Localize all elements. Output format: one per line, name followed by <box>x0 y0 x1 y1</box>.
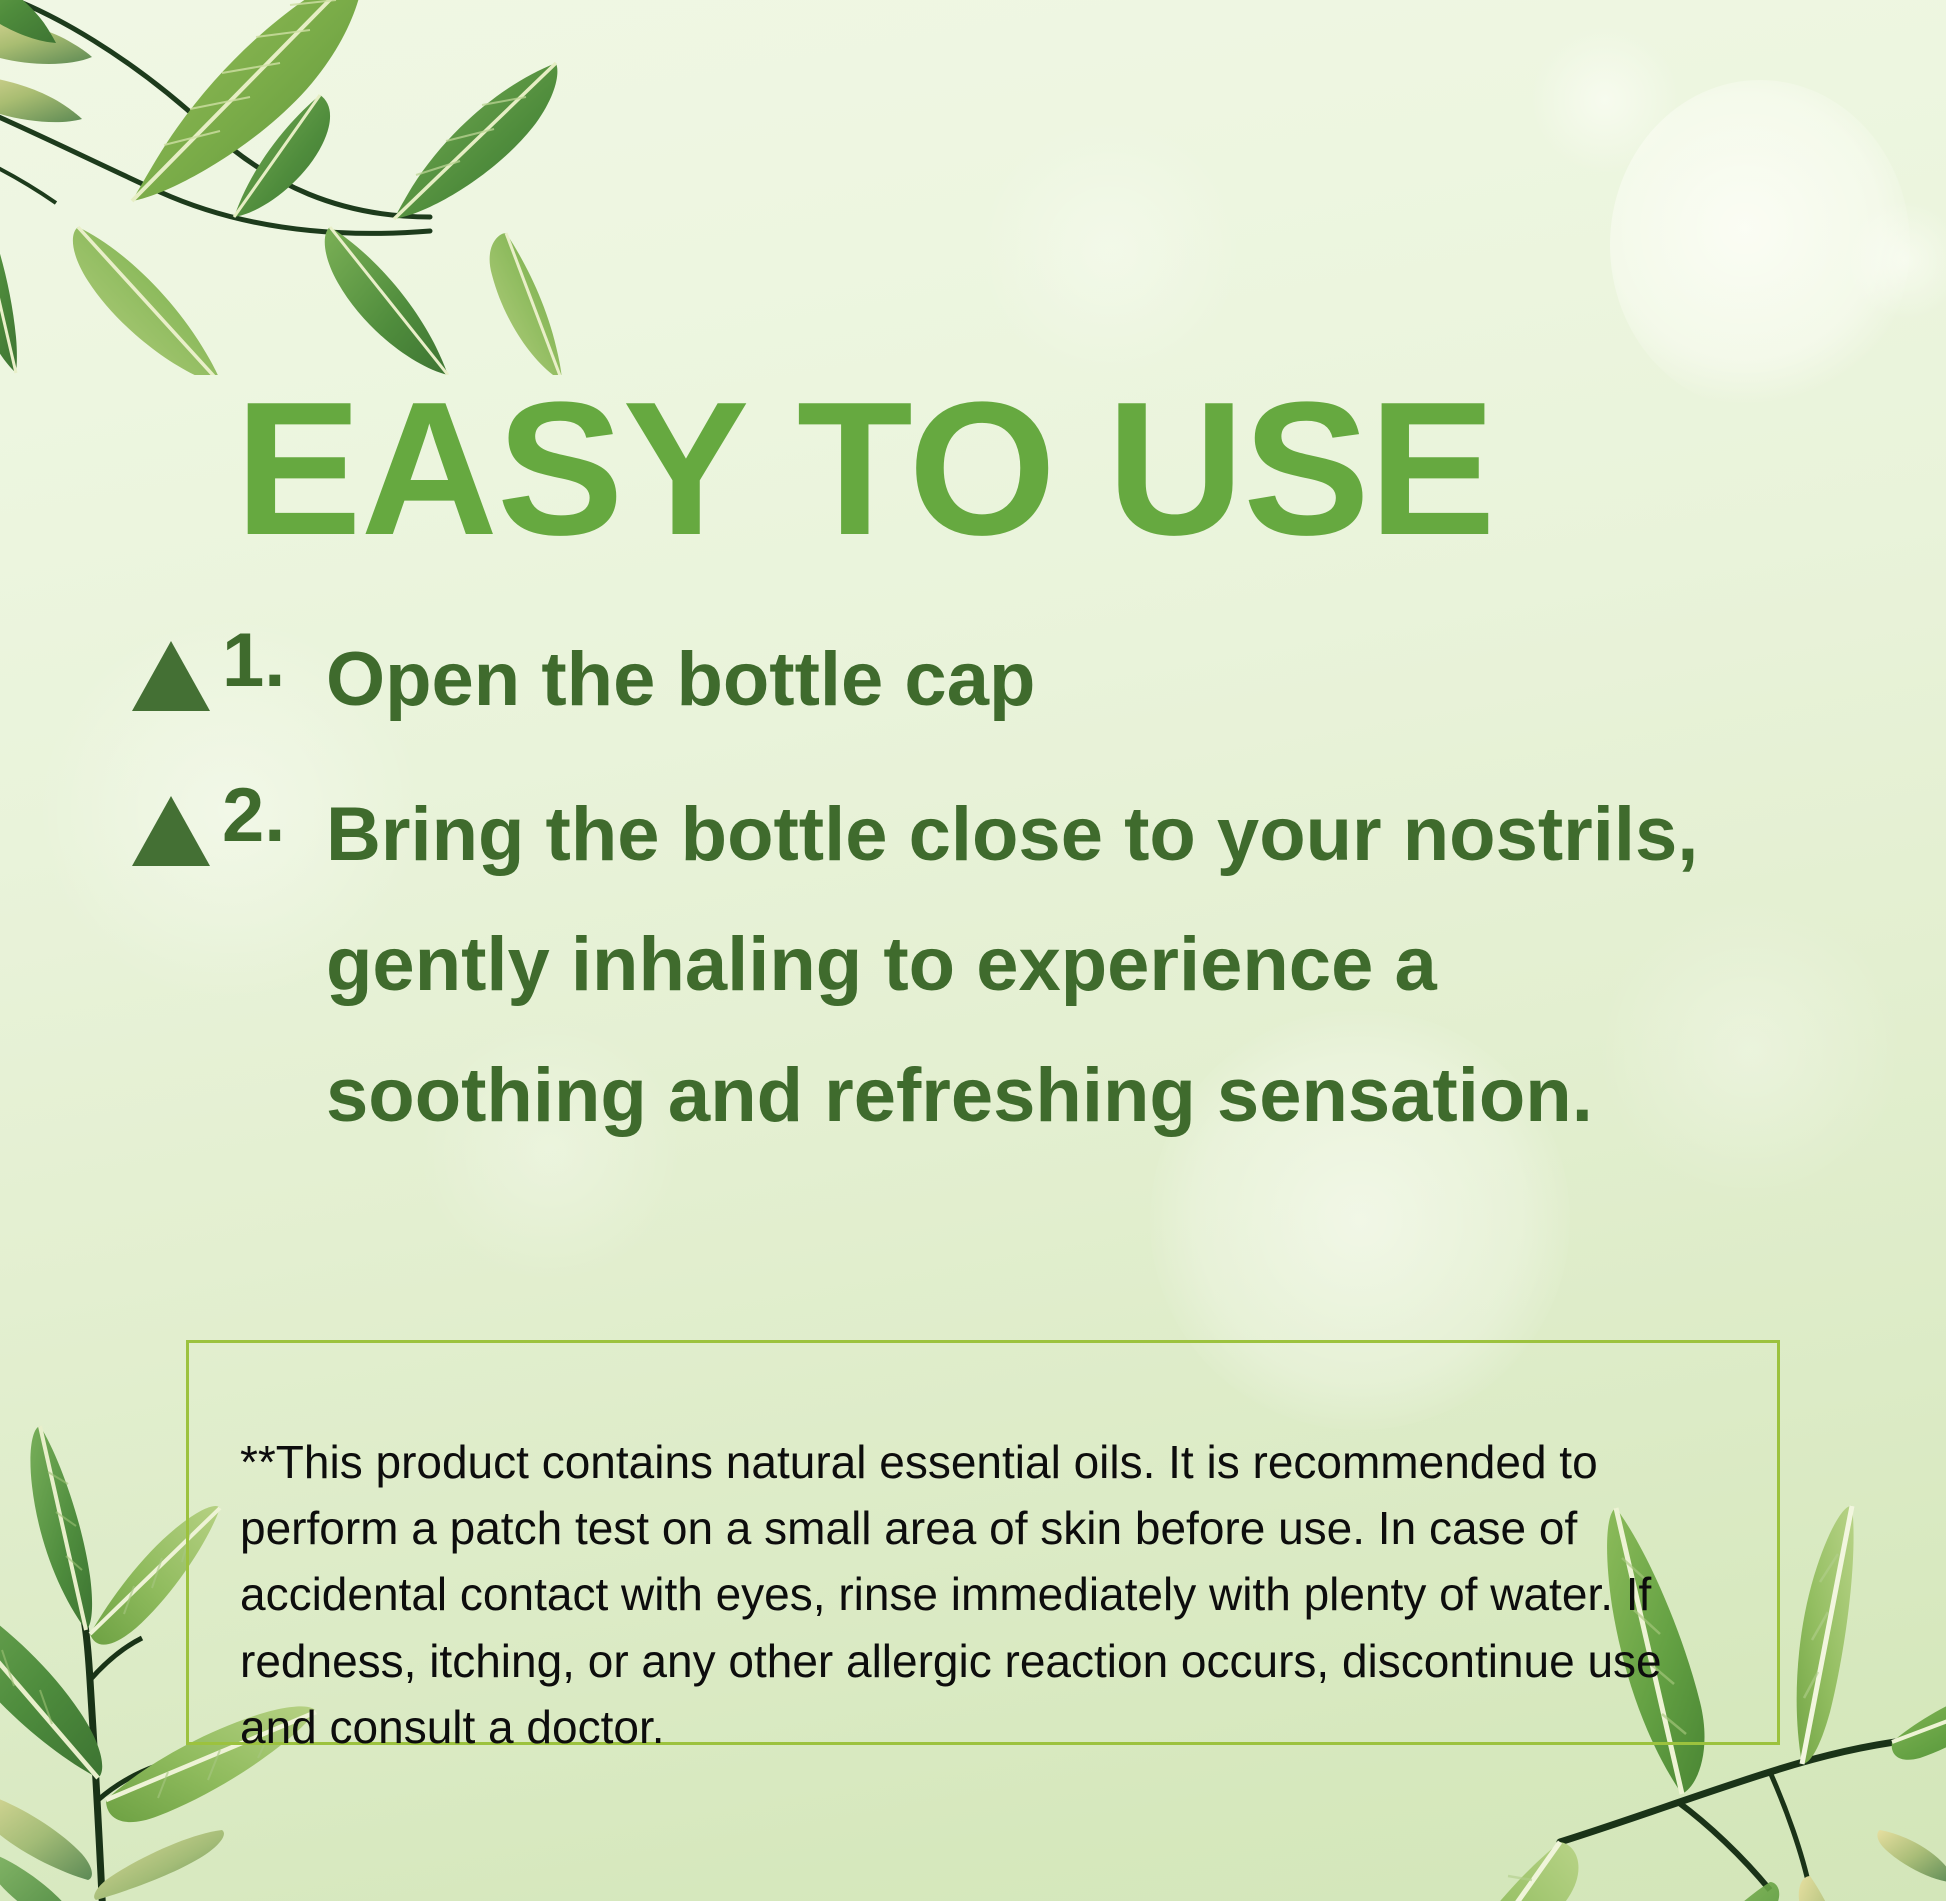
poster-canvas: EASY TO USE 1. Open the bottle cap 2. Br… <box>0 0 1946 1901</box>
disclaimer-text: **This product contains natural essentia… <box>240 1429 1740 1760</box>
instruction-steps-list: 1. Open the bottle cap 2. Bring the bott… <box>132 615 1832 1186</box>
step-number: 2. <box>222 770 326 863</box>
page-title: EASY TO USE <box>235 374 1495 564</box>
bokeh-highlight <box>1530 25 1680 175</box>
list-item: 2. Bring the bottle close to your nostri… <box>132 770 1832 1162</box>
list-item: 1. Open the bottle cap <box>132 615 1832 746</box>
bokeh-highlight <box>1845 200 1946 320</box>
triangle-bullet-icon <box>132 796 210 866</box>
bokeh-highlight <box>980 120 1240 380</box>
triangle-bullet-icon <box>132 641 210 711</box>
step-number: 1. <box>222 615 326 708</box>
bokeh-highlight <box>1610 80 1910 410</box>
step-text: Bring the bottle close to your nostrils,… <box>326 770 1746 1162</box>
step-text: Open the bottle cap <box>326 615 1035 746</box>
leaf-branch-icon <box>0 0 580 375</box>
